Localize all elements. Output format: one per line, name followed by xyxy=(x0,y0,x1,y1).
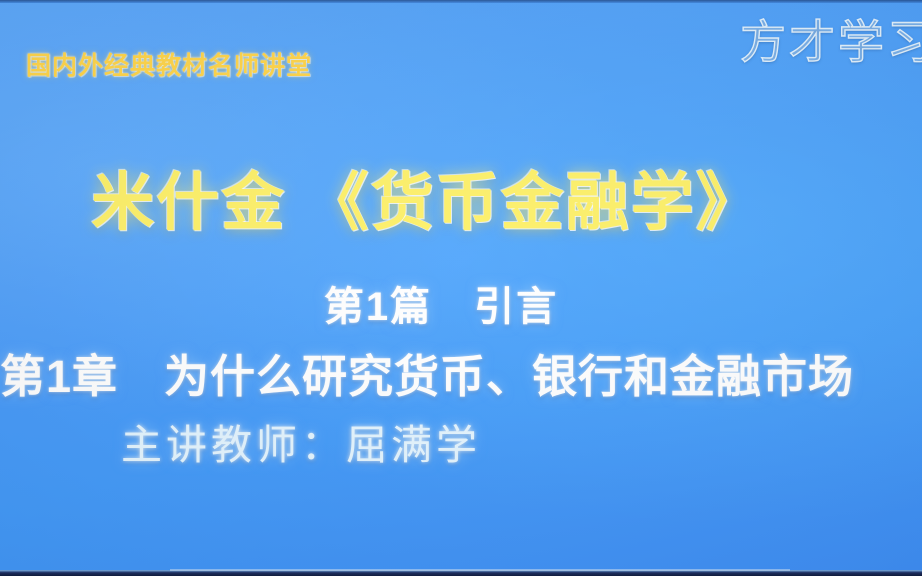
bottom-edge-band xyxy=(0,570,922,576)
book-title: 米什金 《货币金融学》 xyxy=(0,152,922,243)
lecturer-credit: 主讲教师：屈满学 xyxy=(0,411,922,471)
bottom-edge-highlight xyxy=(170,569,790,571)
part-heading: 第1篇 引言 xyxy=(0,274,922,332)
top-edge-band xyxy=(0,0,922,3)
channel-watermark: 方才学习 xyxy=(740,6,922,72)
course-series-kicker: 国内外经典教材名师讲堂 xyxy=(26,46,312,82)
video-slide-frame: 国内外经典教材名师讲堂 方才学习 米什金 《货币金融学》 第1篇 引言 第1章 … xyxy=(0,0,922,576)
chapter-heading: 第1章 为什么研究货币、银行和金融市场 xyxy=(0,340,922,405)
